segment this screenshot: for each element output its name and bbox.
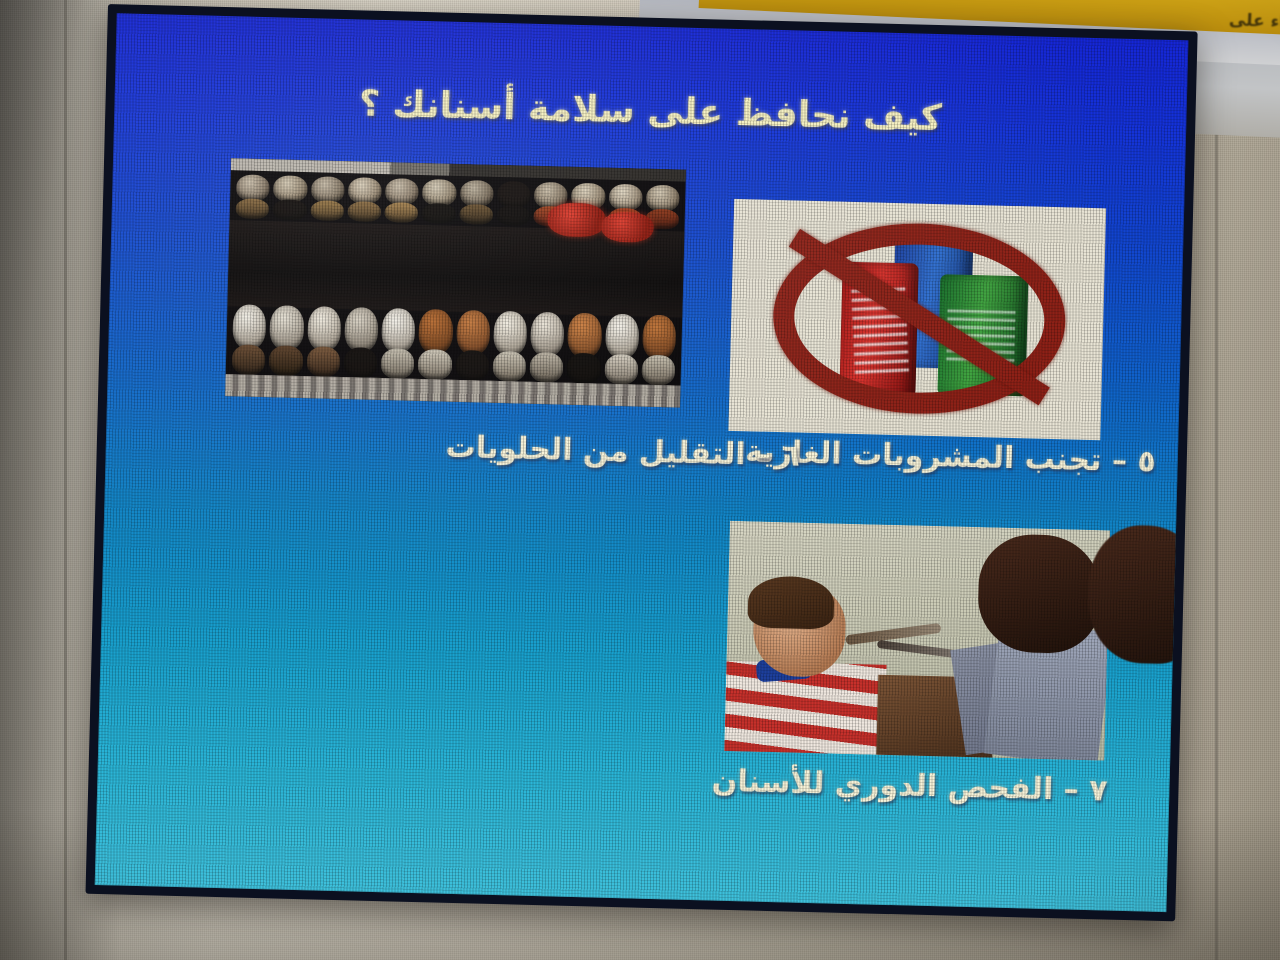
caption-avoid-soft-drinks: ٥ – تجنب المشروبات الغازية	[745, 434, 1156, 479]
sweets-chocolates-photo	[225, 158, 686, 407]
sweets-red-candy-b	[601, 212, 654, 243]
projection-screen: كيف نحافظ على سلامة أسنانك ؟	[85, 4, 1197, 921]
sweets-red-candy-a	[547, 202, 606, 237]
dental-checkup-photo	[724, 521, 1110, 761]
dentist-head	[977, 533, 1102, 654]
slide-title: كيف نحافظ على سلامة أسنانك ؟	[114, 77, 1187, 145]
no-soda-sign	[728, 199, 1106, 440]
caption-regular-dental-checkup: ٧ – الفحص الدوري للأسنان	[711, 764, 1107, 809]
photographed-scene: ات، يكبر الـبناء على كيف نحافظ على سلامة…	[0, 0, 1280, 960]
presentation-slide: كيف نحافظ على سلامة أسنانك ؟	[95, 13, 1189, 912]
